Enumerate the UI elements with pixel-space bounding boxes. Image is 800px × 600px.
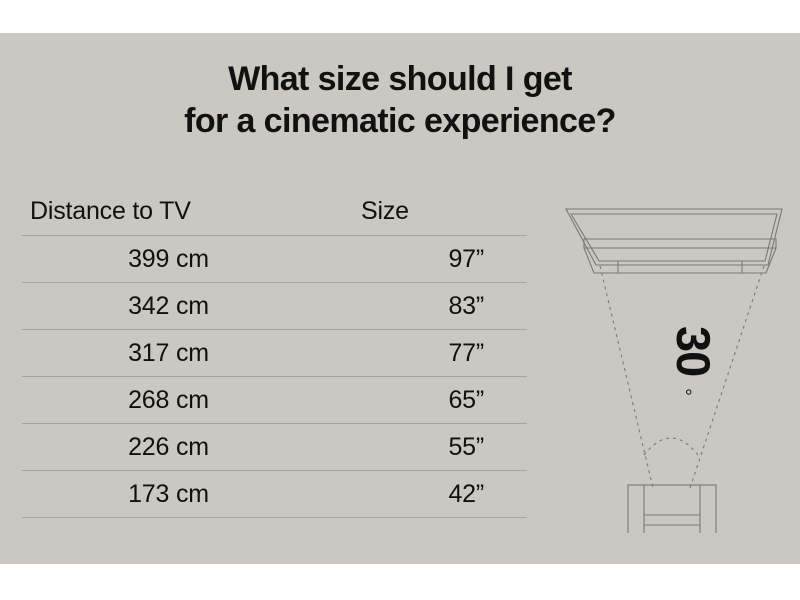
table-row: 317 cm 77”: [22, 330, 527, 377]
cell-distance: 399 cm: [22, 245, 385, 274]
table-row: 173 cm 42”: [22, 471, 527, 518]
column-header-size: Size: [343, 197, 527, 226]
cell-distance: 173 cm: [22, 480, 385, 509]
cell-distance: 342 cm: [22, 292, 385, 321]
table-row: 268 cm 65”: [22, 377, 527, 424]
page-title: What size should I get for a cinematic e…: [0, 58, 800, 142]
cell-size: 42”: [385, 480, 527, 509]
table-row: 226 cm 55”: [22, 424, 527, 471]
television-stand-icon: [584, 239, 776, 273]
viewing-angle-arc: [644, 438, 698, 455]
cell-size: 83”: [385, 292, 527, 321]
table-row: 342 cm 83”: [22, 283, 527, 330]
cell-size: 97”: [385, 245, 527, 274]
size-table: Distance to TV Size 399 cm 97” 342 cm 83…: [22, 188, 527, 518]
cell-size: 77”: [385, 339, 527, 368]
angle-value: 30: [666, 326, 721, 376]
column-header-distance: Distance to TV: [22, 197, 343, 226]
title-line-2: for a cinematic experience?: [0, 100, 800, 142]
cell-size: 65”: [385, 386, 527, 415]
infographic-panel: What size should I get for a cinematic e…: [0, 33, 800, 564]
sofa-icon: [628, 485, 716, 533]
cell-size: 55”: [385, 433, 527, 462]
cell-distance: 268 cm: [22, 386, 385, 415]
viewing-angle-label: 30 °: [645, 326, 725, 416]
television-icon: [566, 209, 782, 265]
cell-distance: 317 cm: [22, 339, 385, 368]
title-line-1: What size should I get: [0, 58, 800, 100]
degree-symbol-icon: °: [672, 388, 694, 396]
table-row: 399 cm 97”: [22, 236, 527, 283]
table-header-row: Distance to TV Size: [22, 188, 527, 236]
cell-distance: 226 cm: [22, 433, 385, 462]
